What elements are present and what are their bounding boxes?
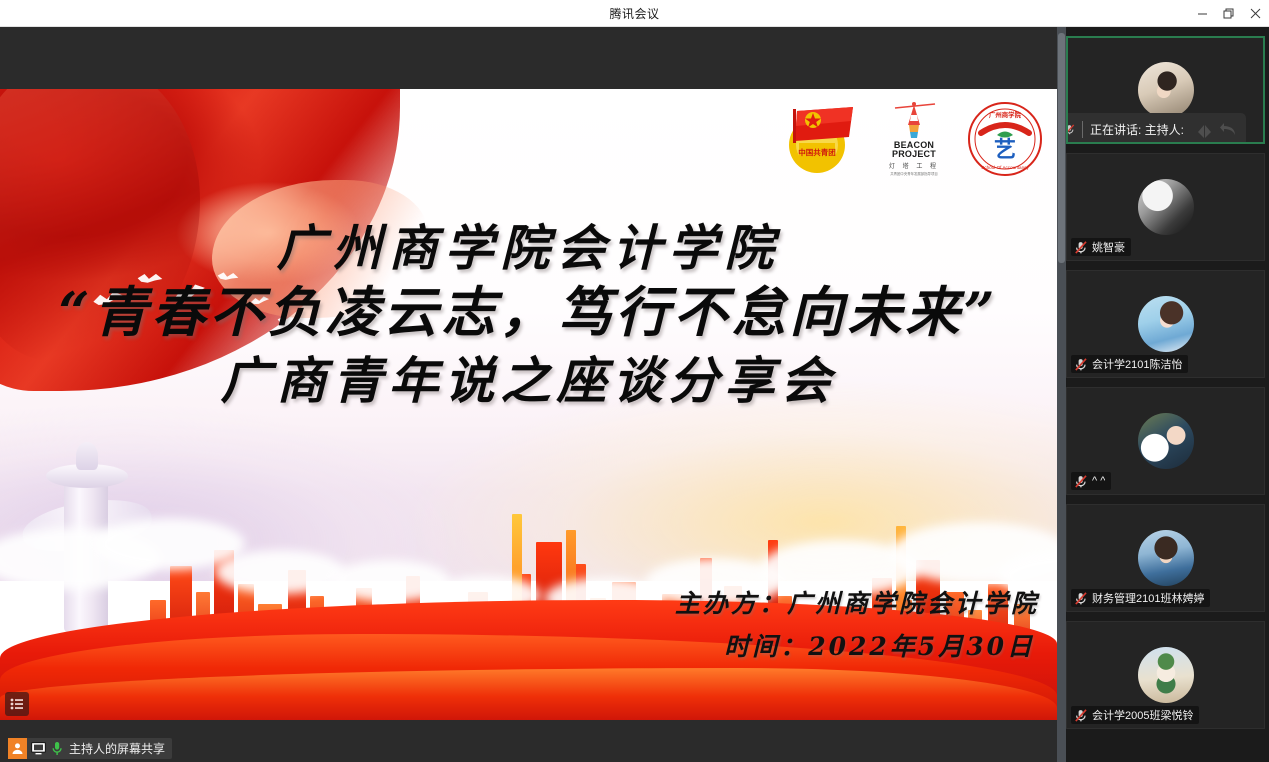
microphone-muted-icon (1074, 474, 1088, 489)
shared-screen-stage: 中国共青团 (0, 27, 1057, 762)
avatar-photo (1138, 647, 1194, 703)
participant-tile-chen-jieyi[interactable]: 会计学2101陈洁怡 (1066, 270, 1265, 378)
logo-row: 中国共青团 (777, 101, 1043, 177)
microphone-muted-icon (1074, 357, 1088, 372)
shared-slide: 中国共青团 (0, 89, 1057, 720)
avatar (1138, 179, 1194, 235)
guangzhou-college-of-commerce-logo: 艺 广州商学院 School Of Accountancy (967, 101, 1043, 177)
slide-title-line2: “青春不负凌云志，笃行不怠向未来” (0, 280, 1057, 346)
communist-youth-league-emblem: 中国共青团 (777, 103, 861, 175)
svg-text:中国共青团: 中国共青团 (798, 147, 836, 157)
microphone-muted-icon (1074, 708, 1088, 723)
close-icon[interactable] (1241, 0, 1269, 27)
vertical-scrollbar[interactable] (1057, 27, 1066, 762)
slide-datetime: 时间：2022年5月30日 (675, 627, 1035, 663)
screen-share-icon (31, 741, 46, 756)
person-icon (8, 738, 27, 759)
avatar-photo (1138, 413, 1194, 469)
microphone-muted-icon (1074, 591, 1088, 606)
list-icon[interactable] (5, 692, 29, 716)
svg-text:艺: 艺 (994, 137, 1016, 163)
avatar-photo (1138, 62, 1194, 118)
beacon-title-line2: PROJECT (892, 150, 936, 159)
tencent-meeting-window: 腾讯会议 (0, 0, 1269, 762)
scrollbar-thumb[interactable] (1058, 33, 1065, 263)
microphone-muted-icon (1066, 121, 1075, 138)
window-controls (1189, 0, 1269, 27)
slide-meta-block: 主办方：广州商学院会计学院 时间：2022年5月30日 (675, 584, 1039, 663)
participant-tile-yao-zhihao[interactable]: 姚智豪 (1066, 153, 1265, 261)
participant-name-chip: 姚智豪 (1071, 238, 1131, 256)
avatar (1138, 647, 1194, 703)
avatar-photo (1138, 296, 1194, 352)
participant-name: 会计学2005班梁悦铃 (1092, 707, 1193, 723)
divider (1082, 121, 1083, 138)
microphone-on-icon (50, 741, 63, 757)
microphone-muted-icon (1074, 240, 1088, 255)
avatar-photo (1138, 179, 1194, 235)
svg-text:广州商学院: 广州商学院 (989, 110, 1022, 119)
minimize-icon[interactable] (1189, 0, 1215, 27)
avatar (1138, 296, 1194, 352)
participant-name: 财务管理2101班林娉婷 (1092, 590, 1204, 606)
participant-tiles: 主持人的屏幕共享 正在讲话: 主持人: (1066, 36, 1269, 738)
avatar (1138, 530, 1194, 586)
volume-icon[interactable] (1191, 120, 1217, 140)
window-title: 腾讯会议 (609, 5, 659, 22)
restore-icon[interactable] (1215, 0, 1241, 27)
speaking-label: 正在讲话: 主持人: (1090, 121, 1184, 138)
participant-tile-lin-pingting[interactable]: 财务管理2101班林娉婷 (1066, 504, 1265, 612)
participant-tile-liang-yueling[interactable]: 会计学2005班梁悦铃 (1066, 621, 1265, 729)
slide-organizer: 主办方：广州商学院会计学院 (675, 584, 1039, 620)
beacon-subtitle: 灯 塔 工 程 (889, 161, 939, 170)
participant-name-chip: 会计学2101陈洁怡 (1071, 355, 1188, 373)
bottom-share-bar: 主持人的屏幕共享 (0, 735, 1057, 762)
participant-tile-dog-selfie[interactable]: ^ ^ (1066, 387, 1265, 495)
return-arrow-icon[interactable] (1220, 122, 1238, 138)
svg-text:School Of Accountancy: School Of Accountancy (981, 165, 1029, 170)
participant-name: 会计学2101陈洁怡 (1092, 356, 1182, 372)
slide-title-line3: 广商青年说之座谈分享会 (0, 350, 1057, 411)
slide-title-line1: 广州商学院会计学院 (0, 219, 1057, 278)
cloud (215, 550, 345, 594)
participant-name: ^ ^ (1092, 475, 1105, 487)
participant-sidebar: 主持人的屏幕共享 正在讲话: 主持人: (1057, 27, 1269, 762)
avatar (1138, 62, 1194, 118)
beacon-project-logo: BEACON PROJECT 灯 塔 工 程 共青团中央青年发展部指导项目 (883, 101, 945, 177)
beacon-subtitle-small: 共青团中央青年发展部指导项目 (890, 171, 937, 176)
participant-name-chip: ^ ^ (1071, 472, 1111, 490)
share-status-label: 主持人的屏幕共享 (69, 740, 165, 757)
title-bar: 腾讯会议 (0, 0, 1269, 27)
participant-name-chip: 财务管理2101班林娉婷 (1071, 589, 1210, 607)
share-status-pill: 主持人的屏幕共享 (8, 738, 172, 759)
speaking-toast: 正在讲话: 主持人: (1066, 113, 1246, 144)
participant-name-chip: 会计学2005班梁悦铃 (1071, 706, 1199, 724)
participant-name: 姚智豪 (1092, 239, 1125, 255)
avatar-photo (1138, 530, 1194, 586)
participant-tile-host[interactable]: 主持人的屏幕共享 正在讲话: 主持人: (1066, 36, 1265, 144)
toast-icon-group (1191, 120, 1238, 140)
avatar (1138, 413, 1194, 469)
huabiao-top (76, 442, 98, 470)
slide-title-block: 广州商学院会计学院 “青春不负凌云志，笃行不怠向未来” 广商青年说之座谈分享会 (0, 219, 1057, 411)
